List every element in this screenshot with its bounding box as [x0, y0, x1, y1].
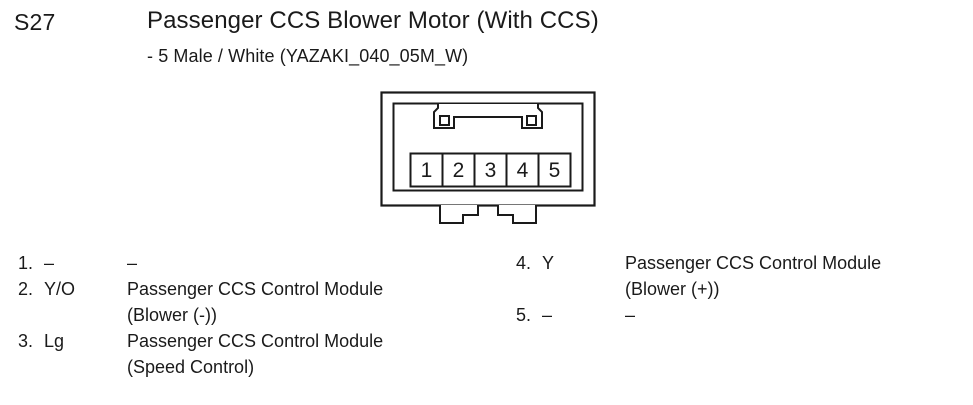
pin-number: 5.	[516, 302, 542, 328]
pin-wire-color: –	[44, 250, 126, 276]
pin-number: 3.	[18, 328, 44, 354]
pin-wire-color: Lg	[44, 328, 126, 354]
page-title: Passenger CCS Blower Motor (With CCS)	[147, 6, 599, 36]
pin-list-item: 3. Lg Passenger CCS Control Module (Spee…	[18, 328, 498, 380]
pin-number-4: 4	[517, 159, 529, 182]
connector-header: S27 Passenger CCS Blower Motor (With CCS…	[0, 0, 973, 80]
pin-list-item: 2. Y/O Passenger CCS Control Module (Blo…	[18, 276, 498, 328]
connector-tab-left	[440, 205, 478, 223]
pin-list-left-column: 1. – – 2. Y/O Passenger CCS Control Modu…	[18, 250, 498, 380]
pin-assignment-list: 1. – – 2. Y/O Passenger CCS Control Modu…	[0, 250, 973, 405]
connector-code: S27	[14, 8, 56, 36]
pin-list-item: 5. – –	[516, 302, 966, 328]
connector-diagram: 1 2 3 4 5	[370, 84, 610, 229]
pin-wire-color: Y	[542, 250, 624, 276]
pin-description-detail: (Blower (+))	[625, 276, 720, 302]
pin-number: 2.	[18, 276, 44, 302]
latch-hole-left	[440, 116, 449, 125]
pin-description: –	[625, 302, 635, 328]
pin-number-3: 3	[485, 159, 497, 182]
pin-description: Passenger CCS Control Module	[127, 276, 383, 302]
pin-description: –	[127, 250, 137, 276]
pin-description: Passenger CCS Control Module	[127, 328, 383, 354]
pin-number-1: 1	[421, 159, 433, 182]
pin-number: 1.	[18, 250, 44, 276]
pin-number-5: 5	[549, 159, 561, 182]
pin-description-detail: (Speed Control)	[127, 354, 254, 380]
pin-number-2: 2	[453, 159, 465, 182]
pin-list-item: 4. Y Passenger CCS Control Module (Blowe…	[516, 250, 966, 302]
pin-wire-color: Y/O	[44, 276, 126, 302]
pin-number: 4.	[516, 250, 542, 276]
pin-list-right-column: 4. Y Passenger CCS Control Module (Blowe…	[516, 250, 966, 328]
pin-list-item: 1. – –	[18, 250, 498, 276]
pin-wire-color: –	[542, 302, 624, 328]
connector-subtitle: - 5 Male / White (YAZAKI_040_05M_W)	[147, 44, 468, 68]
pin-row: 1 2 3 4 5	[411, 154, 571, 187]
pin-description: Passenger CCS Control Module	[625, 250, 881, 276]
latch-hole-right	[527, 116, 536, 125]
pin-description-detail: (Blower (-))	[127, 302, 217, 328]
connector-tab-right	[498, 205, 536, 223]
